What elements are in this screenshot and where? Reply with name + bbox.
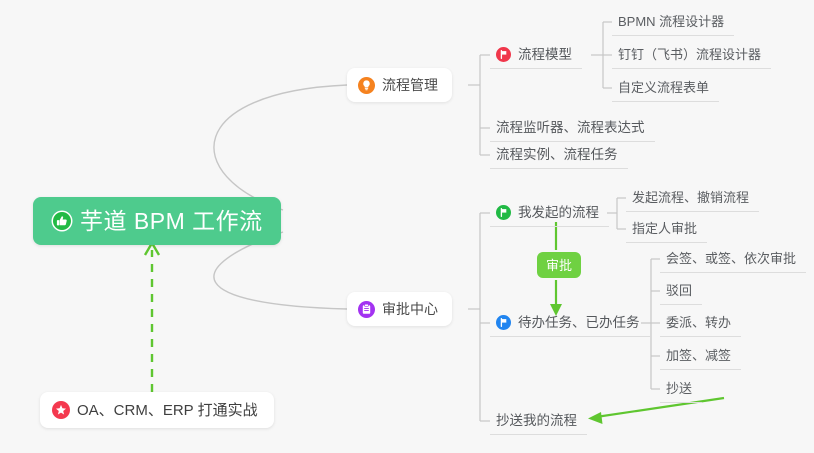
node-start-cancel-process[interactable]: 发起流程、撤销流程: [626, 184, 759, 212]
root-label: 芋道 BPM 工作流: [80, 210, 263, 233]
node-label: 流程模型: [518, 48, 572, 62]
flag-icon: [496, 315, 511, 330]
free-node-oa-crm-erp[interactable]: OA、CRM、ERP 打通实战: [40, 392, 274, 428]
lightbulb-icon: [358, 77, 375, 94]
node-reject[interactable]: 驳回: [660, 277, 702, 305]
node-label: 流程实例、流程任务: [496, 148, 618, 162]
clipboard-icon: [358, 301, 375, 318]
approval-callout-badge: 审批: [537, 252, 581, 278]
node-label: 委派、转办: [666, 316, 731, 329]
node-custom-process-form[interactable]: 自定义流程表单: [612, 74, 719, 102]
node-delegate-transfer[interactable]: 委派、转办: [660, 309, 741, 337]
node-label: 待办任务、已办任务: [518, 316, 640, 330]
branch-process-management[interactable]: 流程管理: [347, 68, 452, 102]
flag-icon: [496, 47, 511, 62]
node-todo-done-tasks[interactable]: 待办任务、已办任务: [490, 309, 650, 337]
branch-approval-center[interactable]: 审批中心: [347, 292, 452, 326]
node-cc[interactable]: 抄送: [660, 375, 702, 403]
star-icon: [52, 401, 70, 419]
node-add-remove-sign[interactable]: 加签、减签: [660, 342, 741, 370]
node-dingtalk-feishu-designer[interactable]: 钉钉（飞书）流程设计器: [612, 41, 771, 69]
node-my-initiated[interactable]: 我发起的流程: [490, 199, 609, 227]
mindmap-canvas: 芋道 BPM 工作流 流程管理 流程模型 BPMN 流程设计器 钉钉（飞书）流程: [0, 0, 814, 453]
badge-label: 审批: [546, 259, 572, 272]
node-label: 发起流程、撤销流程: [632, 191, 749, 204]
branch-label: 审批中心: [382, 302, 438, 316]
node-label: 流程监听器、流程表达式: [496, 121, 645, 135]
node-label: BPMN 流程设计器: [618, 15, 724, 28]
branch-label: 流程管理: [382, 78, 438, 92]
node-label: 指定人审批: [632, 222, 697, 235]
node-label: 会签、或签、依次审批: [666, 252, 796, 265]
flag-icon: [496, 205, 511, 220]
node-label: 抄送: [666, 382, 692, 395]
node-countersign-orsign-sequential[interactable]: 会签、或签、依次审批: [660, 245, 806, 273]
node-process-model[interactable]: 流程模型: [490, 41, 582, 69]
thumbs-up-icon: [51, 210, 73, 232]
node-cc-to-me[interactable]: 抄送我的流程: [490, 407, 587, 435]
node-label: 加签、减签: [666, 349, 731, 362]
node-listener-expression[interactable]: 流程监听器、流程表达式: [490, 114, 655, 142]
node-instance-task[interactable]: 流程实例、流程任务: [490, 141, 628, 169]
node-bpmn-designer[interactable]: BPMN 流程设计器: [612, 8, 734, 36]
node-label: 自定义流程表单: [618, 81, 709, 94]
free-node-label: OA、CRM、ERP 打通实战: [77, 403, 258, 418]
root-node[interactable]: 芋道 BPM 工作流: [33, 197, 281, 245]
node-label: 抄送我的流程: [496, 414, 577, 428]
node-label: 我发起的流程: [518, 206, 599, 220]
node-label: 钉钉（飞书）流程设计器: [618, 48, 761, 61]
node-label: 驳回: [666, 284, 692, 297]
node-designated-approval[interactable]: 指定人审批: [626, 215, 707, 243]
